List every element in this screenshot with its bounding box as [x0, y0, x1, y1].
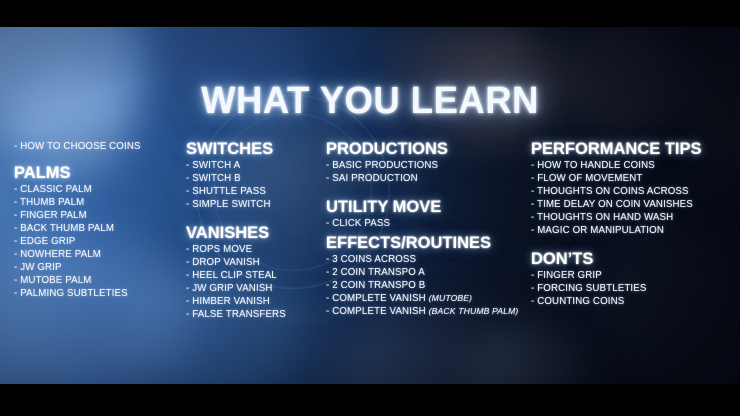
list-item: - BACK THUMB PALM [14, 222, 186, 235]
section-header-utility-move: UTILITY MOVE [326, 198, 531, 217]
section-list-vanishes: - ROPS MOVE - DROP VANISH - HEEL CLIP ST… [186, 243, 326, 321]
list-item: - TIME DELAY ON COIN VANISHES [531, 198, 736, 211]
list-item: - FALSE TRANSFERS [186, 308, 326, 321]
list-item: - FINGER PALM [14, 209, 186, 222]
column-4: PERFORMANCE TIPS - HOW TO HANDLE COINS -… [531, 140, 736, 308]
section-header-switches: SWITCHES [186, 140, 326, 159]
list-item: - MAGIC OR MANIPULATION [531, 224, 736, 237]
list-item: - FINGER GRIP [531, 269, 736, 282]
list-item: - HIMBER VANISH [186, 295, 326, 308]
list-item: - THOUGHTS ON COINS ACROSS [531, 185, 736, 198]
list-item: - MUTOBE PALM [14, 274, 186, 287]
list-item: - 2 COIN TRANSPO A [326, 266, 531, 279]
list-item-with-note: - COMPLETE VANISH (BACK THUMB PALM) [326, 305, 531, 318]
list-item: - SWITCH B [186, 172, 326, 185]
section-header-palms: PALMS [14, 164, 186, 183]
list-item: - COUNTING COINS [531, 295, 736, 308]
section-header-productions: PRODUCTIONS [326, 140, 531, 159]
section-header-donts: DON’TS [531, 250, 736, 269]
section-list-utility-move: - CLICK PASS [326, 217, 531, 230]
list-item-note: (MUTOBE) [429, 293, 473, 303]
section-header-performance-tips: PERFORMANCE TIPS [531, 140, 736, 159]
list-item: - EDGE GRIP [14, 235, 186, 248]
column-3: PRODUCTIONS - BASIC PRODUCTIONS - SAI PR… [326, 140, 531, 318]
list-item: - CLICK PASS [326, 217, 531, 230]
section-spacer [531, 237, 736, 250]
list-item: - HEEL CLIP STEAL [186, 269, 326, 282]
list-item: - NOWHERE PALM [14, 248, 186, 261]
list-item-text: - COMPLETE VANISH [326, 293, 426, 304]
list-item: - JW GRIP VANISH [186, 282, 326, 295]
list-item: - ROPS MOVE [186, 243, 326, 256]
section-list-effects-routines: - 3 COINS ACROSS - 2 COIN TRANSPO A - 2 … [326, 253, 531, 318]
video-slide: WHAT YOU LEARN - HOW TO CHOOSE COINS PAL… [0, 0, 740, 416]
list-item-text: - COMPLETE VANISH [326, 306, 426, 317]
list-item: - HOW TO HANDLE COINS [531, 159, 736, 172]
list-item: - SHUTTLE PASS [186, 185, 326, 198]
list-item: - THOUGHTS ON HAND WASH [531, 211, 736, 224]
section-list-productions: - BASIC PRODUCTIONS - SAI PRODUCTION [326, 159, 531, 185]
list-item: - PALMING SUBTLETIES [14, 287, 186, 300]
section-list-palms: - CLASSIC PALM - THUMB PALM - FINGER PAL… [14, 183, 186, 300]
slide-content: WHAT YOU LEARN - HOW TO CHOOSE COINS PAL… [0, 0, 740, 416]
lead-item-how-to-choose-coins: - HOW TO CHOOSE COINS [14, 140, 186, 153]
list-item: - BASIC PRODUCTIONS [326, 159, 531, 172]
list-item: - SAI PRODUCTION [326, 172, 531, 185]
list-item: - FLOW OF MOVEMENT [531, 172, 736, 185]
section-list-donts: - FINGER GRIP - FORCING SUBTLETIES - COU… [531, 269, 736, 308]
page-title: WHAT YOU LEARN [15, 80, 725, 123]
section-list-performance-tips: - HOW TO HANDLE COINS - FLOW OF MOVEMENT… [531, 159, 736, 237]
section-list-switches: - SWITCH A - SWITCH B - SHUTTLE PASS - S… [186, 159, 326, 211]
list-item: - SWITCH A [186, 159, 326, 172]
list-item: - CLASSIC PALM [14, 183, 186, 196]
list-item: - 2 COIN TRANSPO B [326, 279, 531, 292]
list-item: - JW GRIP [14, 261, 186, 274]
section-header-effects-routines: EFFECTS/ROUTINES [326, 234, 531, 253]
list-item: - DROP VANISH [186, 256, 326, 269]
section-spacer [186, 211, 326, 224]
column-1: - HOW TO CHOOSE COINS PALMS - CLASSIC PA… [14, 140, 186, 300]
column-2: SWITCHES - SWITCH A - SWITCH B - SHUTTLE… [186, 140, 326, 321]
list-item: - THUMB PALM [14, 196, 186, 209]
list-item: - SIMPLE SWITCH [186, 198, 326, 211]
list-item-note: (BACK THUMB PALM) [429, 306, 519, 316]
list-item: - 3 COINS ACROSS [326, 253, 531, 266]
list-item-with-note: - COMPLETE VANISH (MUTOBE) [326, 292, 531, 305]
section-spacer [326, 185, 531, 198]
list-item: - FORCING SUBTLETIES [531, 282, 736, 295]
section-header-vanishes: VANISHES [186, 224, 326, 243]
